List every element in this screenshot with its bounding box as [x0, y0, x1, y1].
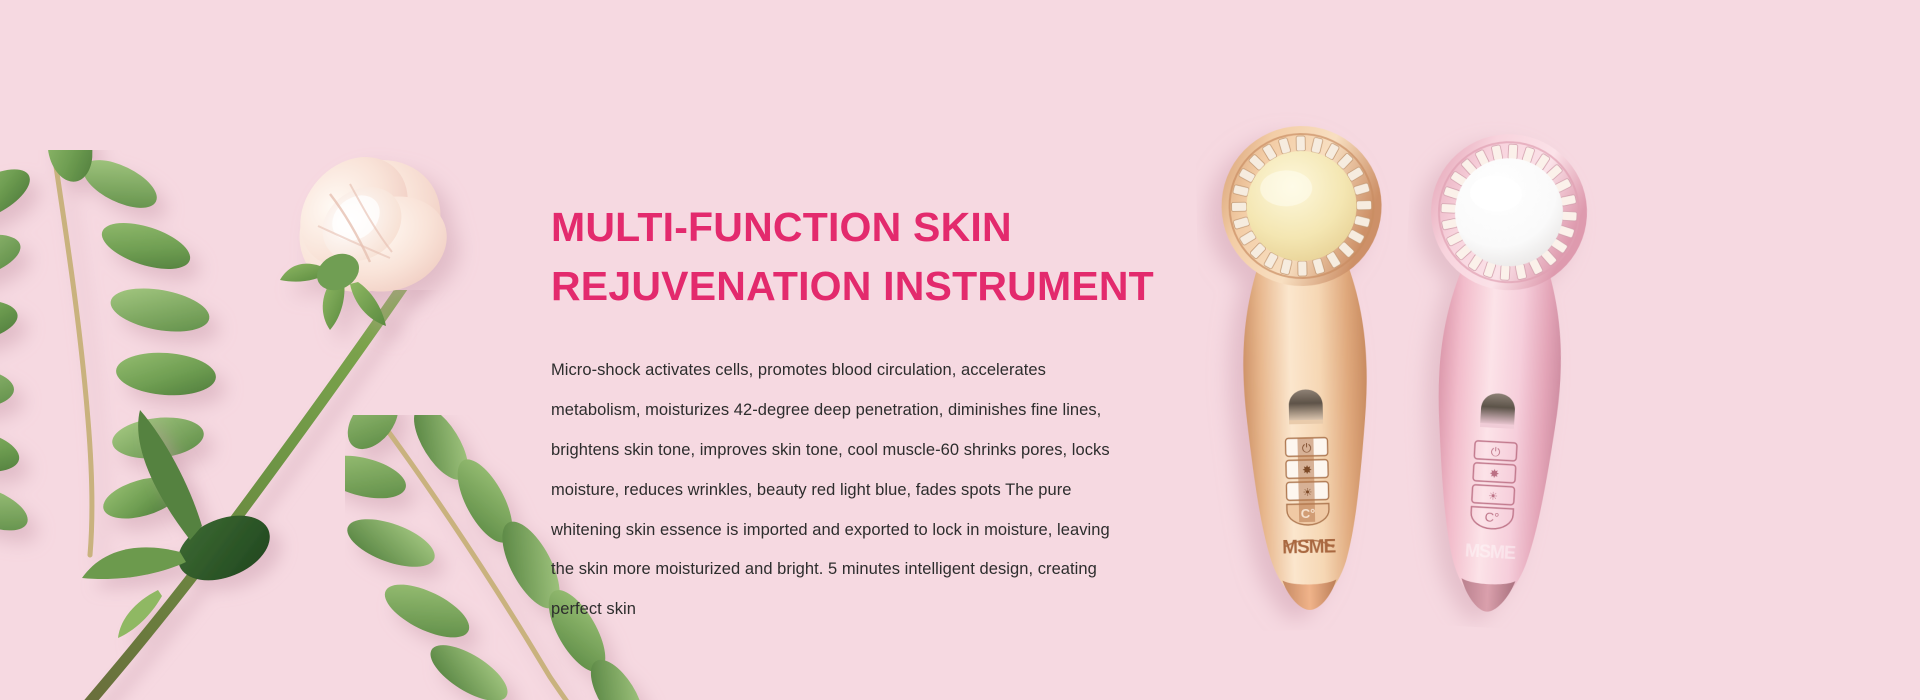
headline-line-1: MULTI-FUNCTION SKIN: [551, 198, 1151, 257]
temperature-icon: C°: [1301, 506, 1316, 521]
product-gold-device[interactable]: ⏻ ✸ ☀ C° MSME: [1195, 108, 1416, 632]
brand-logo: MSME: [1464, 540, 1516, 563]
temperature-icon: C°: [1484, 509, 1499, 525]
power-icon: ⏻: [1490, 445, 1501, 460]
page-title: MULTI-FUNCTION SKIN REJUVENATION INSTRUM…: [551, 198, 1151, 317]
sun-icon: ☀: [1303, 487, 1313, 499]
sun-icon: ☀: [1488, 491, 1499, 504]
product-images: ⏻ ✸ ☀ C° MSME: [1150, 90, 1690, 650]
snowflake-icon: ✸: [1302, 463, 1312, 477]
product-description: Micro-shock activates cells, promotes bl…: [551, 317, 1131, 630]
headline-line-2: REJUVENATION INSTRUMENT: [551, 257, 1151, 316]
product-pink-device[interactable]: ⏻ ✸ ☀ C° MSME: [1386, 113, 1614, 633]
product-banner: MULTI-FUNCTION SKIN REJUVENATION INSTRUM…: [0, 0, 1920, 700]
power-icon: ⏻: [1302, 441, 1312, 455]
rose-flower-icon: [258, 140, 488, 370]
copy-block: MULTI-FUNCTION SKIN REJUVENATION INSTRUM…: [551, 198, 1151, 630]
snowflake-icon: ✸: [1489, 467, 1500, 482]
